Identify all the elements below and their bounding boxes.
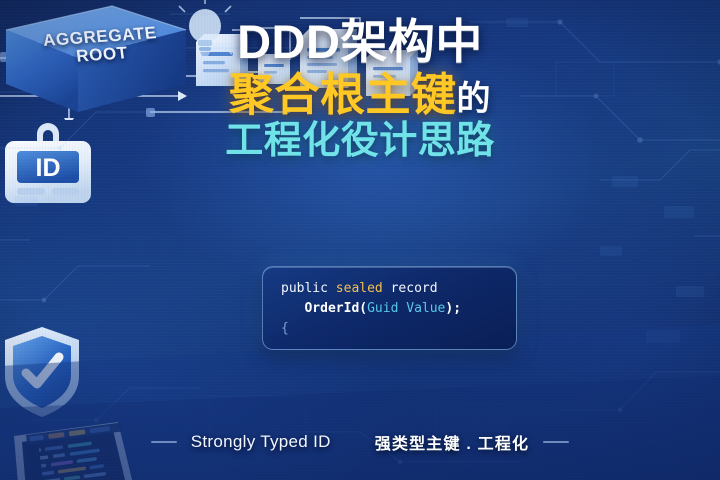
code-keyword-sealed: sealed <box>336 281 383 296</box>
title-line-2: 聚合根主键的 <box>0 72 720 118</box>
code-keyword-record: record <box>391 281 438 296</box>
title-line-3: 工程化役计思路 <box>0 122 720 161</box>
code-param-type-guid: Guid <box>367 301 398 316</box>
footer-chinese-text: 强类型主键 . 工程化 <box>375 430 530 454</box>
code-line-2: OrderId(Guid Value); <box>281 299 516 319</box>
footer-caption: Strongly Typed ID 强类型主键 . 工程化 <box>0 430 720 454</box>
footer-dash-left <box>151 441 177 443</box>
code-type-orderid: OrderId <box>304 301 359 316</box>
code-snippet-panel: public sealed record OrderId(Guid Value)… <box>262 266 517 350</box>
poster-title: DDD架构中 聚合根主键的 工程化役计思路 <box>0 18 720 161</box>
title-highlight-text: 聚合根主键 <box>229 69 457 120</box>
poster-canvas: DDD架构中 聚合根主键的 工程化役计思路 <box>0 0 720 480</box>
title-line-2-suffix: 的 <box>457 80 492 118</box>
code-paren-close: ); <box>445 301 461 316</box>
code-param-name-value: Value <box>406 301 445 316</box>
footer-dash-right <box>543 441 569 443</box>
title-line-1: DDD架构中 <box>0 18 720 66</box>
code-line-3: { <box>281 319 516 339</box>
code-paren-open: ( <box>359 301 367 316</box>
code-keyword-public: public <box>281 281 328 296</box>
code-line-1: public sealed record <box>281 279 516 299</box>
footer-english-text: Strongly Typed ID <box>191 432 331 452</box>
